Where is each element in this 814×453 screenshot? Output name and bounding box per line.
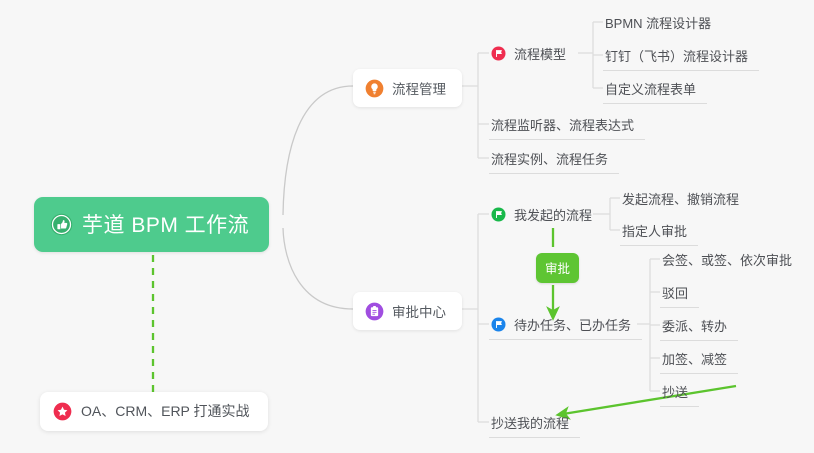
node-label: 委派、转办 [662, 316, 727, 335]
lightbulb-icon [365, 79, 384, 98]
branch-node-process-management[interactable]: 流程管理 [353, 69, 462, 107]
node-label: 钉钉（飞书）流程设计器 [605, 46, 748, 65]
node-label: 指定人审批 [622, 221, 687, 240]
branch-node-approval-center[interactable]: 审批中心 [353, 292, 462, 330]
node-label: 待办任务、已办任务 [514, 315, 631, 334]
node-carbon-copy[interactable]: 抄送 [660, 379, 699, 407]
flag-icon [491, 317, 506, 332]
root-node[interactable]: 芋道 BPM 工作流 [34, 197, 269, 252]
node-start-cancel-process[interactable]: 发起流程、撤销流程 [620, 186, 750, 213]
node-label: 我发起的流程 [514, 205, 592, 224]
node-reject[interactable]: 驳回 [660, 280, 699, 308]
node-countersign-orsign-sequential[interactable]: 会签、或签、依次审批 [660, 247, 803, 274]
node-label: 发起流程、撤销流程 [622, 189, 739, 208]
node-label: 流程监听器、流程表达式 [491, 115, 634, 134]
node-my-initiated-processes[interactable]: 我发起的流程 [489, 202, 603, 229]
callout-label: OA、CRM、ERP 打通实战 [81, 401, 250, 421]
node-delegate-transfer[interactable]: 委派、转办 [660, 313, 738, 341]
node-label: 会签、或签、依次审批 [662, 250, 792, 269]
arrow-cc-to-my-cc [563, 386, 736, 414]
node-process-instance-task[interactable]: 流程实例、流程任务 [489, 146, 619, 174]
node-process-listener-expression[interactable]: 流程监听器、流程表达式 [489, 112, 645, 140]
node-custom-process-form[interactable]: 自定义流程表单 [603, 76, 707, 104]
node-bpmn-designer[interactable]: BPMN 流程设计器 [603, 10, 722, 37]
node-designated-approver[interactable]: 指定人审批 [620, 218, 698, 246]
approval-badge[interactable]: 审批 [536, 253, 579, 283]
branch-label: 流程管理 [392, 78, 446, 98]
node-process-model[interactable]: 流程模型 [489, 41, 577, 68]
thumbs-up-icon [50, 213, 73, 236]
star-icon [53, 402, 72, 421]
node-label: 抄送我的流程 [491, 413, 569, 432]
node-label: 驳回 [662, 283, 688, 302]
mindmap-canvas[interactable]: 芋道 BPM 工作流 流程管理 流程模型 BPMN 流程设计器 钉钉（飞书 [0, 0, 814, 453]
node-label: 流程实例、流程任务 [491, 149, 608, 168]
node-label: 加签、减签 [662, 349, 727, 368]
root-label: 芋道 BPM 工作流 [82, 209, 249, 239]
callout-integration-practice[interactable]: OA、CRM、ERP 打通实战 [40, 392, 268, 431]
node-label: BPMN 流程设计器 [605, 13, 711, 32]
node-dingtalk-feishu-designer[interactable]: 钉钉（飞书）流程设计器 [603, 43, 759, 71]
node-cc-to-me-processes[interactable]: 抄送我的流程 [489, 410, 580, 438]
node-add-remove-signer[interactable]: 加签、减签 [660, 346, 738, 374]
flag-icon [491, 46, 506, 61]
approval-badge-label: 审批 [545, 258, 570, 277]
node-label: 流程模型 [514, 44, 566, 63]
branch-label: 审批中心 [392, 301, 446, 321]
node-label: 抄送 [662, 382, 688, 401]
clipboard-icon [365, 302, 384, 321]
node-todo-done-tasks[interactable]: 待办任务、已办任务 [489, 312, 642, 340]
node-label: 自定义流程表单 [605, 79, 696, 98]
flag-icon [491, 207, 506, 222]
